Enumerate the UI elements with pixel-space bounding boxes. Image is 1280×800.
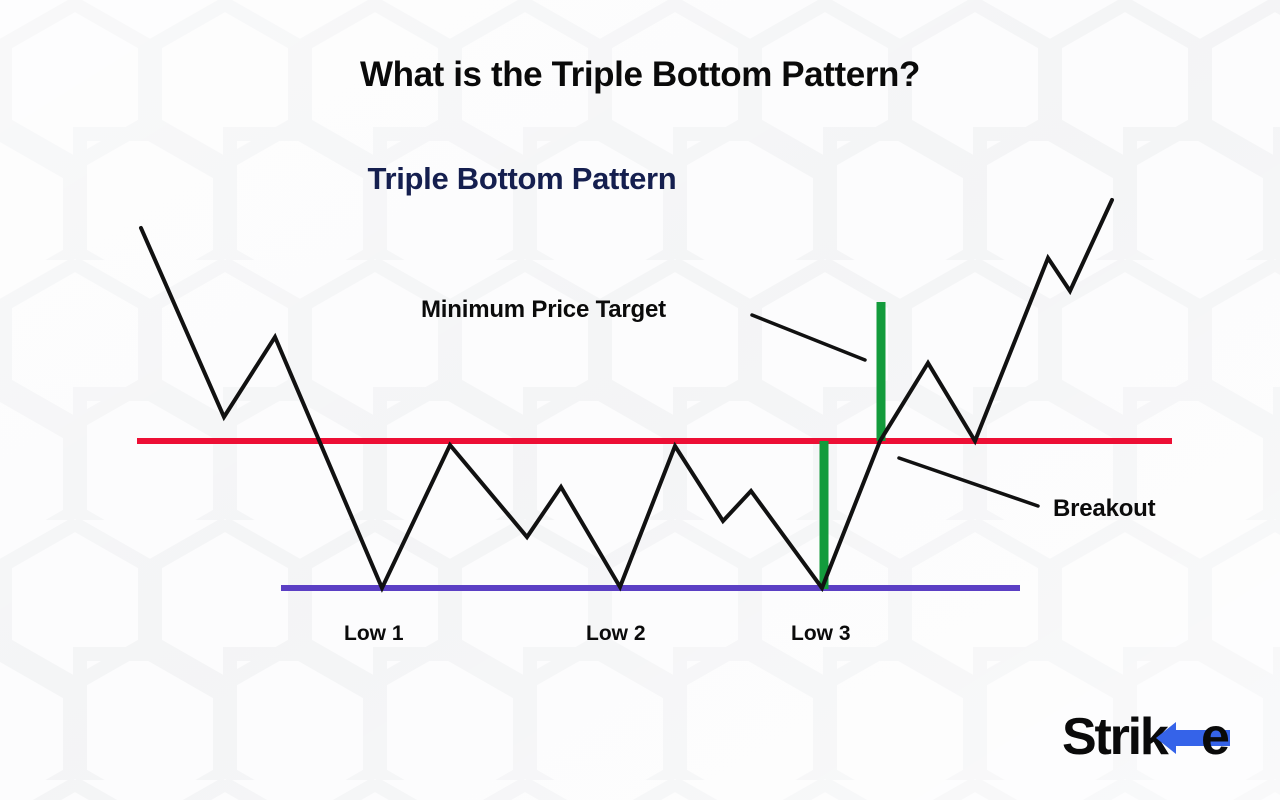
low-2-label: Low 2 — [586, 622, 646, 646]
minimum-price-target-leader-line — [752, 315, 865, 360]
breakout-label: Breakout — [1053, 495, 1155, 523]
low-3-label: Low 3 — [791, 622, 851, 646]
infographic-canvas: What is the Triple Bottom Pattern? Tripl… — [0, 0, 1280, 800]
pattern-depth-bar — [820, 441, 829, 589]
chart-reference-lines — [137, 441, 1172, 588]
breakout-leader-line — [899, 458, 1038, 506]
logo-wordmark-primary: Strik — [1062, 706, 1167, 768]
price-line — [141, 200, 1112, 588]
leader-lines — [752, 315, 1038, 506]
strike-logo[interactable]: Strik e — [1062, 706, 1252, 768]
page-title: What is the Triple Bottom Pattern? — [0, 55, 1280, 95]
minimum-price-target-bar — [877, 302, 886, 441]
low-1-label: Low 1 — [344, 622, 404, 646]
logo-wordmark-suffix: e — [1201, 706, 1228, 768]
triple-bottom-chart — [0, 0, 1280, 800]
minimum-price-target-label: Minimum Price Target — [421, 296, 666, 324]
price-line-group — [141, 200, 1112, 588]
chart-title: Triple Bottom Pattern — [0, 161, 1044, 197]
